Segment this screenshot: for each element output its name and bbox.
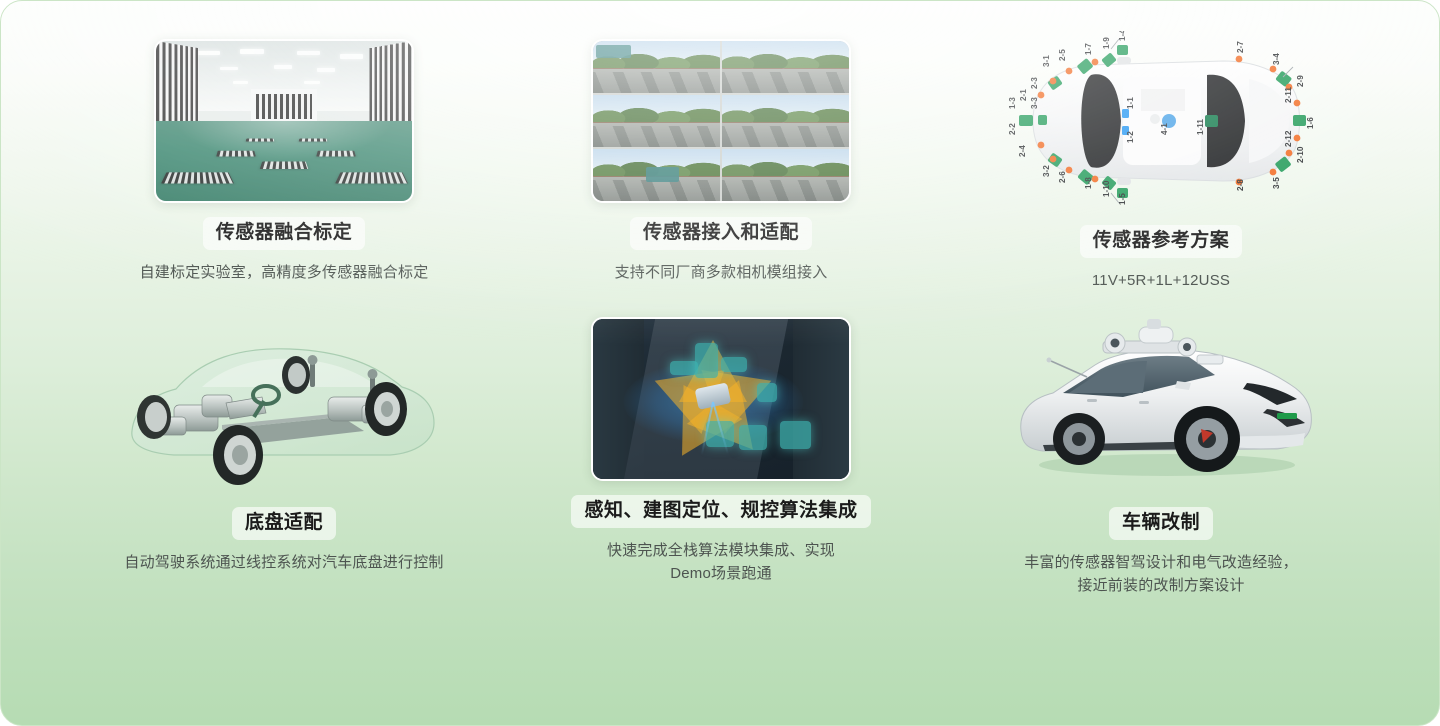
card-title: 传感器融合标定 <box>203 217 366 250</box>
svg-text:1-9: 1-9 <box>1102 37 1111 49</box>
svg-text:2-11: 2-11 <box>1284 87 1293 103</box>
calibration-lab-photo <box>154 39 414 203</box>
card-title: 车辆改制 <box>1109 507 1213 540</box>
svg-text:1-3: 1-3 <box>1008 97 1017 109</box>
svg-text:2-10: 2-10 <box>1296 146 1305 163</box>
card-title: 传感器接入和适配 <box>630 217 812 250</box>
card-description: 11V+5R+1L+12USS <box>951 269 1371 292</box>
card-sensor-reference-solution: 1-3 2-1 2-2 3-3 2-3 2-4 3-1 3-2 2-5 2-6 … <box>951 39 1371 292</box>
card-description: 自建标定实验室，高精度多传感器融合标定 <box>74 261 494 284</box>
svg-text:2-9: 2-9 <box>1296 75 1305 87</box>
svg-text:2-8: 2-8 <box>1236 179 1245 191</box>
svg-text:2-3: 2-3 <box>1030 77 1039 89</box>
svg-text:1-6: 1-6 <box>1306 117 1315 129</box>
svg-text:2-12: 2-12 <box>1284 130 1293 147</box>
sensor-layout-diagram: 1-3 2-1 2-2 3-3 2-3 2-4 3-1 3-2 2-5 2-6 … <box>991 31 1331 211</box>
card-chassis-adaptation: 底盘适配 自动驾驶系统通过线控系统对汽车底盘进行控制 <box>74 313 494 574</box>
svg-text:2-6: 2-6 <box>1058 171 1067 183</box>
camera-view-front-right <box>722 41 849 93</box>
svg-text:2-5: 2-5 <box>1058 49 1067 61</box>
card-title: 感知、建图定位、规控算法集成 <box>571 495 870 528</box>
svg-text:1-7: 1-7 <box>1084 43 1093 55</box>
multi-camera-grid-photo <box>591 39 851 203</box>
svg-text:1-4: 1-4 <box>1118 31 1127 41</box>
svg-text:1-2: 1-2 <box>1126 131 1135 143</box>
card-title: 传感器参考方案 <box>1080 225 1243 258</box>
svg-text:3-2: 3-2 <box>1042 165 1051 177</box>
svg-text:2-4: 2-4 <box>1018 145 1027 157</box>
svg-text:3-3: 3-3 <box>1030 97 1039 109</box>
camera-view-front-left <box>593 41 720 93</box>
camera-view-side-right <box>722 95 849 147</box>
capability-card-grid: 传感器融合标定 自建标定实验室，高精度多传感器融合标定 <box>1 1 1440 601</box>
retrofit-vehicle-photo <box>991 313 1331 493</box>
svg-text:1-10: 1-10 <box>1102 180 1111 197</box>
card-description: 自动驾驶系统通过线控系统对汽车底盘进行控制 <box>74 551 494 574</box>
card-description: 丰富的传感器智驾设计和电气改造经验， 接近前装的改制方案设计 <box>951 551 1371 598</box>
svg-text:3-1: 3-1 <box>1042 55 1051 67</box>
camera-view-rear-left <box>593 149 720 201</box>
infographic-canvas: 传感器融合标定 自建标定实验室，高精度多传感器融合标定 <box>0 0 1440 726</box>
chassis-ghost-render <box>114 313 454 493</box>
card-description: 快速完成全栈算法模块集成、实现 Demo场景跑通 <box>511 539 931 586</box>
svg-text:3-4: 3-4 <box>1272 53 1281 65</box>
svg-text:4-1: 4-1 <box>1160 123 1169 135</box>
svg-text:2-2: 2-2 <box>1008 123 1017 135</box>
card-title: 底盘适配 <box>232 507 336 540</box>
card-algorithm-integration: 感知、建图定位、规控算法集成 快速完成全栈算法模块集成、实现 Demo场景跑通 <box>511 313 931 585</box>
card-sensor-fusion-calibration: 传感器融合标定 自建标定实验室，高精度多传感器融合标定 <box>74 39 494 284</box>
svg-text:1-5: 1-5 <box>1118 193 1127 205</box>
svg-text:2-1: 2-1 <box>1019 89 1028 101</box>
svg-text:1-11: 1-11 <box>1196 119 1205 135</box>
svg-text:2-7: 2-7 <box>1236 41 1245 53</box>
svg-text:1-1: 1-1 <box>1126 97 1135 109</box>
project-timeline: T0 项目启动 T0+W1 系统方案设计 T0+W3 传感器和域控系统集成 T0… <box>1 595 1440 725</box>
card-vehicle-retrofit: 车辆改制 丰富的传感器智驾设计和电气改造经验， 接近前装的改制方案设计 <box>951 313 1371 597</box>
svg-text:3-5: 3-5 <box>1272 177 1281 189</box>
card-sensor-integration-adaptation: 传感器接入和适配 支持不同厂商多款相机模组接入 <box>511 39 931 284</box>
card-description: 支持不同厂商多款相机模组接入 <box>511 261 931 284</box>
camera-view-side-left <box>593 95 720 147</box>
camera-view-rear-right <box>722 149 849 201</box>
svg-text:1-8: 1-8 <box>1084 177 1093 189</box>
perception-visualization-photo <box>591 317 851 481</box>
